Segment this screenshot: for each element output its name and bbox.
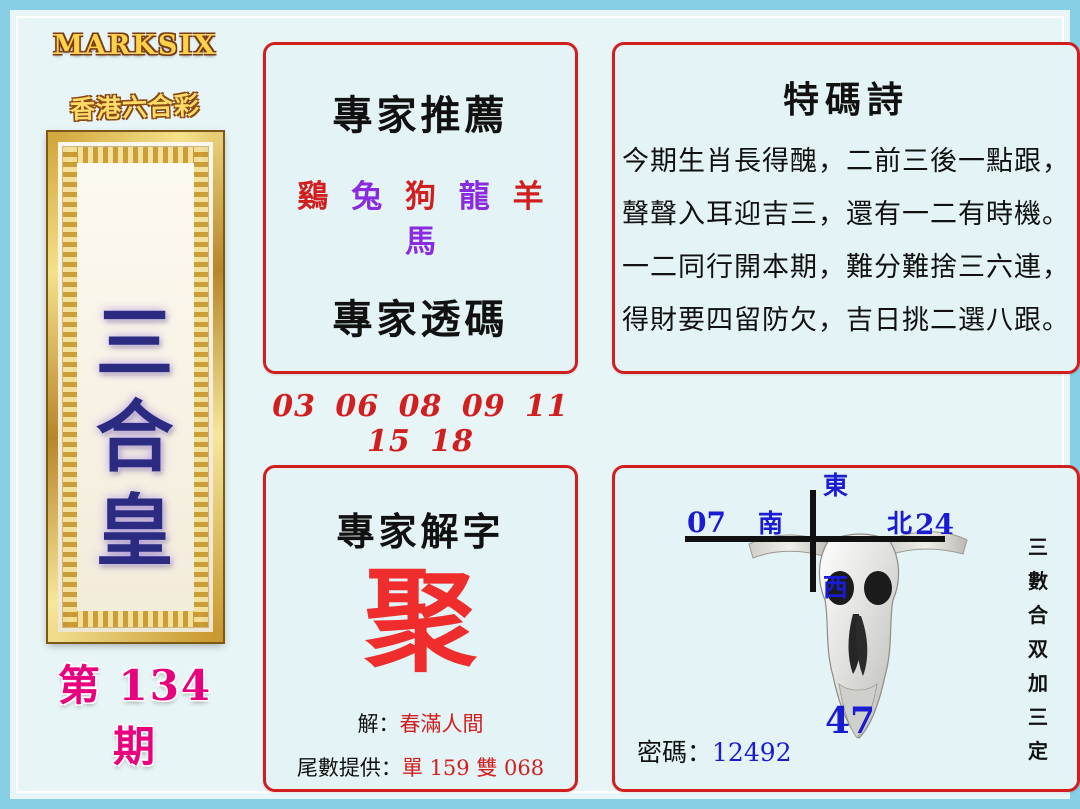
expert-title: 專家推薦 [266,83,575,141]
expert-number: 06 [335,389,379,424]
password-label: 密碼： [637,738,712,767]
issue-number: 第 134 期 [30,652,240,774]
word-explanation-value: 春滿人間 [400,712,484,736]
skull-side-text: 三 數 合 双 加 三 定 [1021,530,1055,768]
expert-number: 11 [525,389,569,424]
expert-number: 03 [272,389,316,424]
expert-code-title: 專家透碼 [266,287,575,345]
word-explanation: 解：春滿人間 [266,708,575,738]
poem-line: 聲聲入耳迎吉三，還有一二有時機。 [615,188,1077,241]
side-text-char: 合 [1021,598,1055,632]
word-title: 專家解字 [266,501,575,556]
side-text-char: 定 [1021,734,1055,768]
direction-south: 南 [758,504,783,540]
expert-number: 18 [430,424,474,459]
skull-number-right: 24 [915,508,954,541]
cross-vertical-line [810,490,816,592]
zodiac-item: 兔 [351,179,382,215]
scroll-teeth-bottom [63,611,208,627]
zodiac-item: 羊 [513,179,544,215]
zodiac-item: 馬 [405,224,436,260]
left-banner: MARKSIX 香港六合彩 三合皇 第 134 期 [24,22,242,802]
expert-recommendation-panel: 專家推薦 鷄 兔 狗 龍 羊 馬 專家透碼 03 06 08 09 11 15 … [263,42,578,374]
skull-content: 東 西 南 北 07 24 47 三 數 合 双 加 三 定 密碼：12492 [615,468,1077,789]
tail-number-value: 單 159 雙 068 [402,756,544,780]
zodiac-item: 鷄 [297,179,328,215]
poster-root: MARKSIX 香港六合彩 三合皇 第 134 期 專家推薦 鷄 兔 狗 龍 [0,0,1080,809]
side-text-char: 加 [1021,666,1055,700]
skull-number-bottom: 47 [825,700,875,742]
scroll-title-text: 三合皇 [63,297,208,579]
scroll-inner: 三合皇 [62,146,209,628]
brand-title: MARKSIX [50,30,220,61]
word-analysis-panel: 專家解字 聚 解：春滿人間 尾數提供：單 159 雙 068 [263,465,578,792]
poem-body: 今期生肖長得醜，二前三後一點跟， 聲聲入耳迎吉三，還有一二有時機。 一二同行開本… [615,135,1077,347]
zodiac-item: 狗 [405,179,436,215]
zodiac-list: 鷄 兔 狗 龍 羊 馬 [266,171,575,261]
tail-number-row: 尾數提供：單 159 雙 068 [266,752,575,782]
expert-number-list: 03 06 08 09 11 15 18 [266,389,575,459]
poem-title: 特碼詩 [615,71,1077,123]
scroll-teeth-top [63,147,208,163]
expert-number: 08 [399,389,443,424]
zodiac-item: 龍 [459,179,490,215]
tail-number-label: 尾數提供： [297,756,402,780]
poster-inner-frame: MARKSIX 香港六合彩 三合皇 第 134 期 專家推薦 鷄 兔 狗 龍 [16,16,1064,793]
poem-line: 一二同行開本期，難分難捨三六連， [615,241,1077,294]
password-row: 密碼：12492 [637,733,792,769]
direction-north: 北 [887,504,912,540]
word-explanation-label: 解： [358,712,400,736]
direction-east: 東 [823,466,848,502]
scroll-decoration: 三合皇 [48,132,223,642]
side-text-char: 双 [1021,632,1055,666]
direction-west: 西 [823,568,848,604]
side-text-char: 三 [1021,700,1055,734]
skull-number-left: 07 [687,506,726,539]
side-text-char: 數 [1021,564,1055,598]
poem-line: 得財要四留防欠，吉日挑二選八跟。 [615,294,1077,347]
password-value: 12492 [712,738,792,767]
poem-line: 今期生肖長得醜，二前三後一點跟， [615,135,1077,188]
side-text-char: 三 [1021,530,1055,564]
brand-title-cn: 香港六合彩 [39,85,230,128]
expert-number: 09 [462,389,506,424]
word-character: 聚 [266,562,575,682]
skull-panel: 東 西 南 北 07 24 47 三 數 合 双 加 三 定 密碼：12492 [612,465,1080,792]
expert-number: 15 [367,424,411,459]
poem-panel: 特碼詩 今期生肖長得醜，二前三後一點跟， 聲聲入耳迎吉三，還有一二有時機。 一二… [612,42,1080,374]
